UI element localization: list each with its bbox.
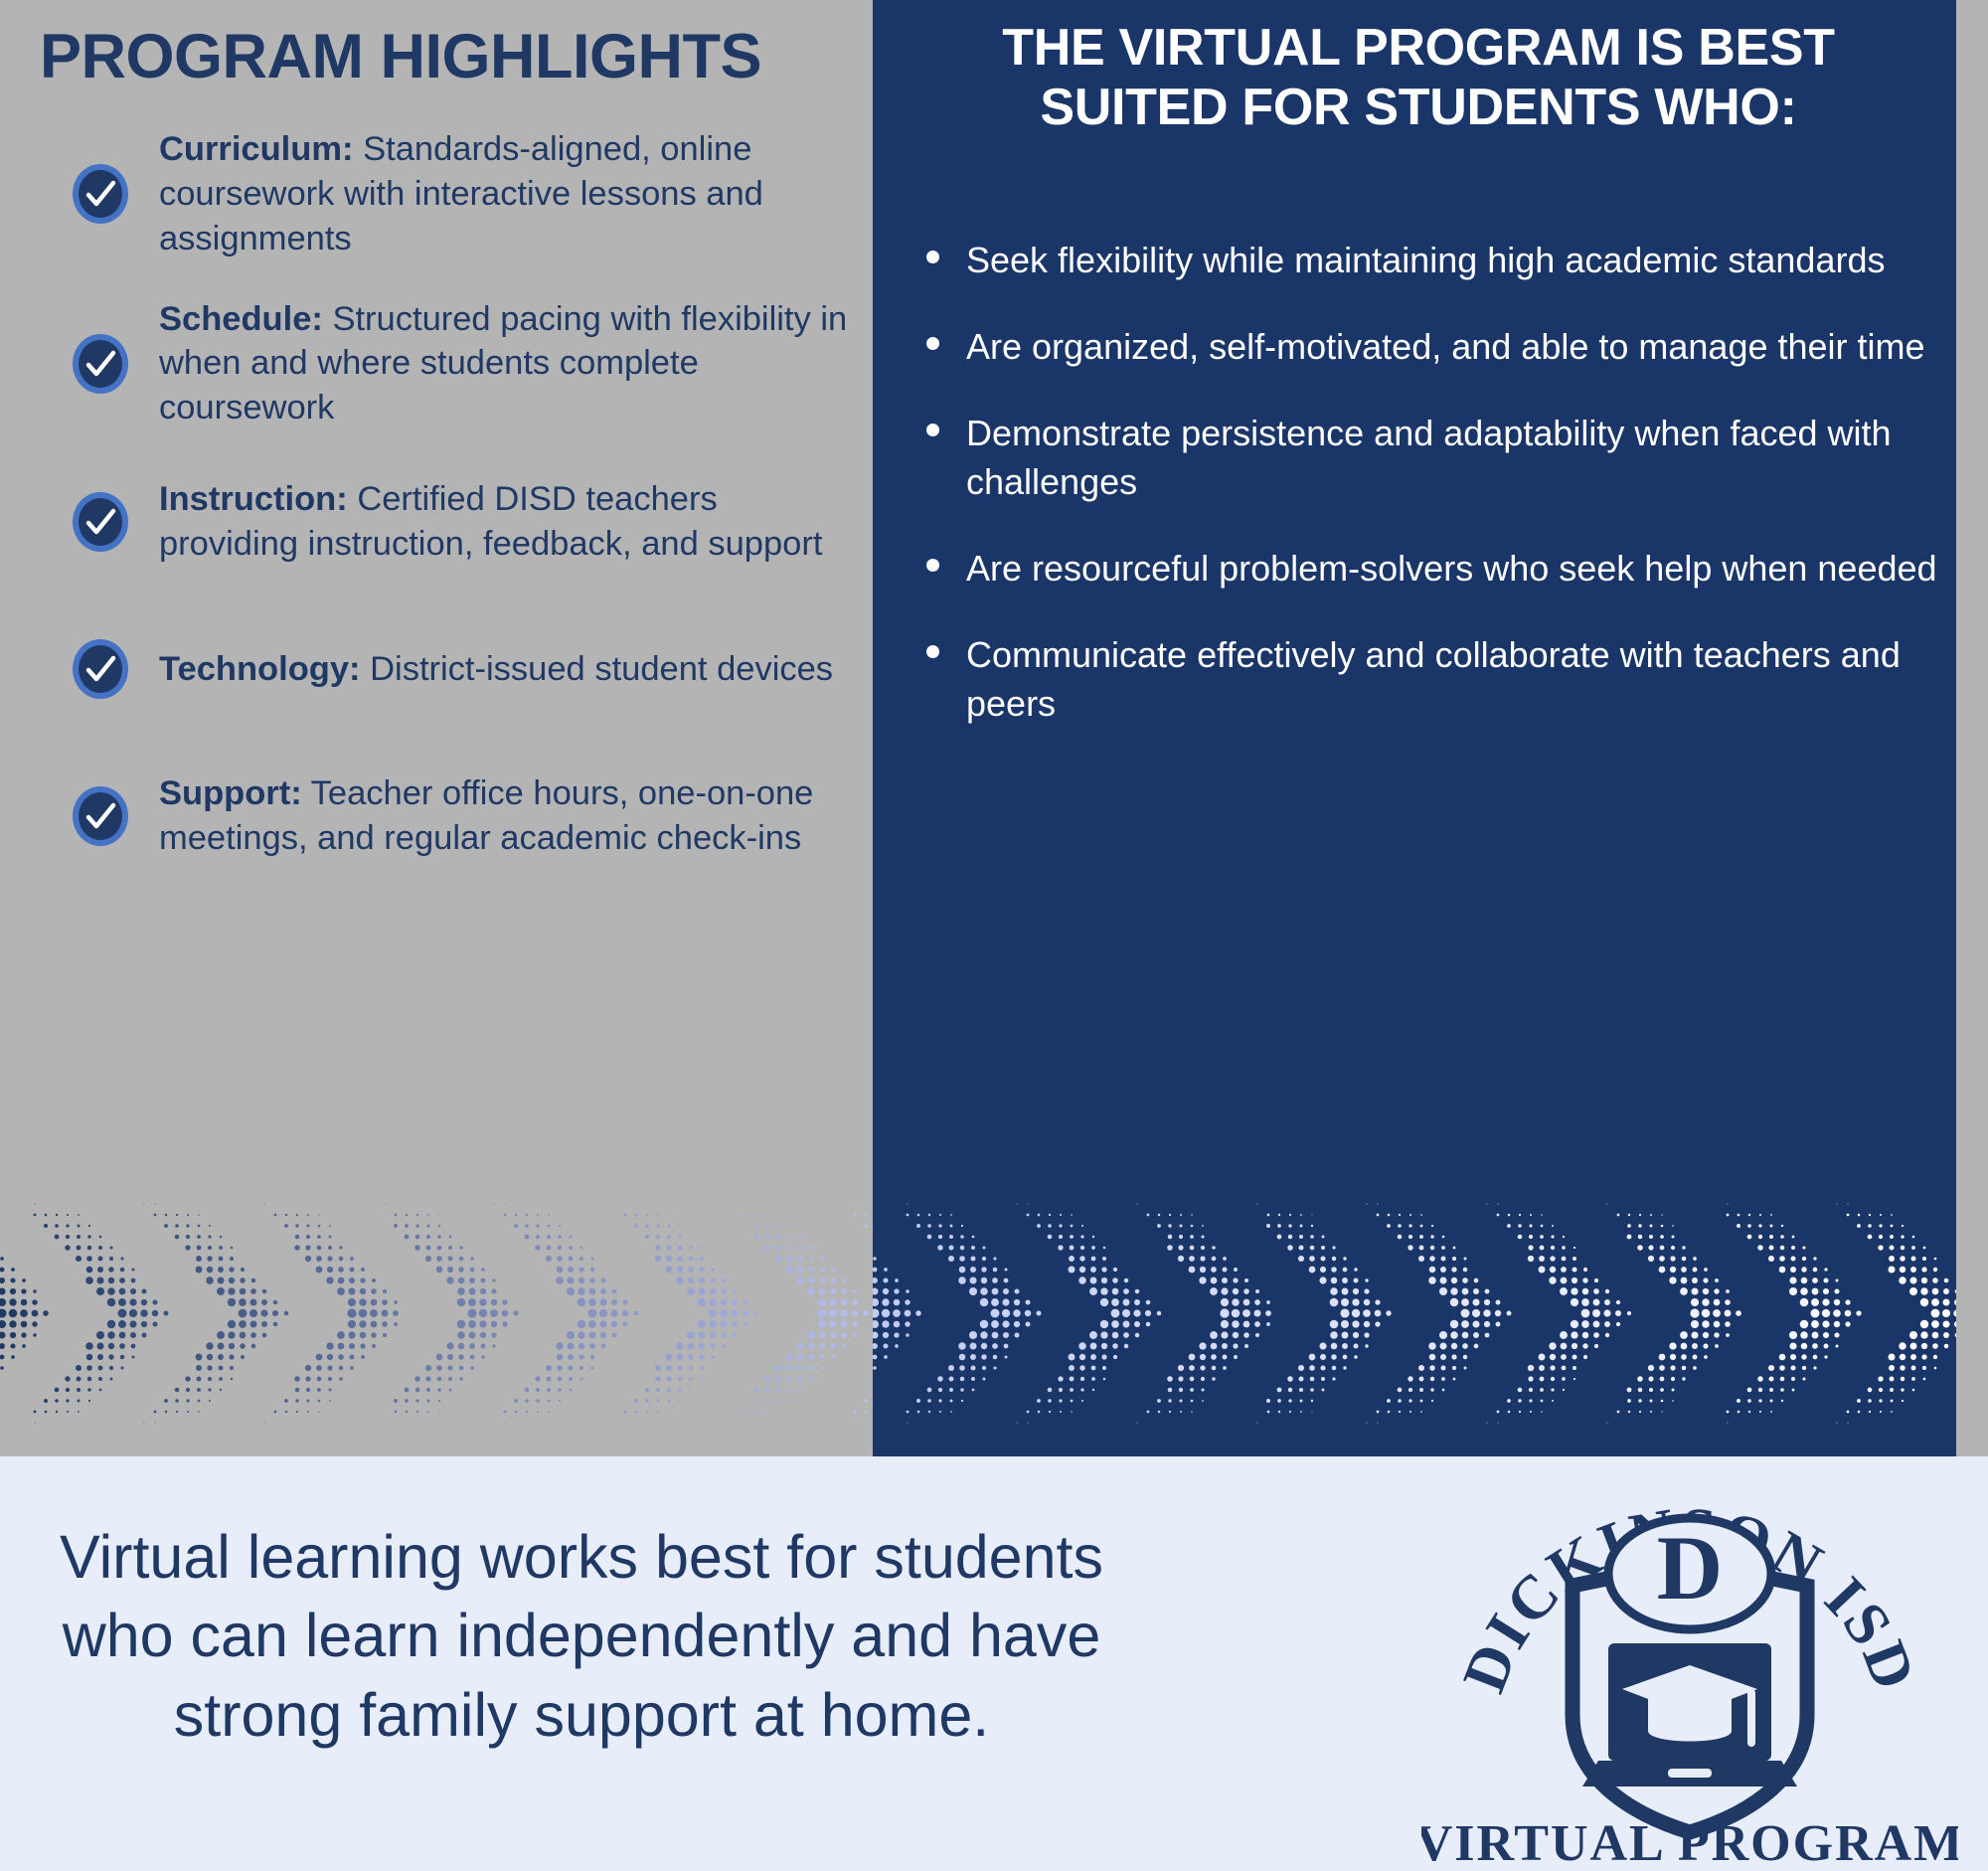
list-item: Demonstrate persistence and adaptability…: [895, 410, 1948, 507]
list-item: Are resourceful problem-solvers who seek…: [895, 545, 1948, 594]
list-item-text: Are resourceful problem-solvers who seek…: [966, 545, 1948, 594]
program-highlights-title: PROGRAM HIGHLIGHTS: [40, 24, 855, 89]
best-suited-title: THE VIRTUAL PROGRAM IS BEST SUITED FOR S…: [916, 18, 1920, 138]
highlight-label: Technology:: [159, 650, 361, 688]
bullet-dot-icon: [926, 559, 939, 572]
highlight-item-support: Support: Teacher office hours, one-on-on…: [60, 761, 855, 872]
program-highlights-list: Curriculum: Standards-aligned, online co…: [60, 127, 855, 908]
check-circle-icon: [72, 491, 129, 553]
logo-monogram: D: [1657, 1517, 1723, 1618]
highlight-text: Support: Teacher office hours, one-on-on…: [159, 771, 855, 861]
highlight-item-technology: Technology: District-issued student devi…: [60, 613, 855, 725]
highlight-label: Schedule:: [159, 300, 323, 338]
bottom-banner: Virtual learning works best for students…: [0, 1456, 1988, 1871]
highlight-label: Curriculum:: [159, 130, 354, 168]
check-circle-icon: [72, 163, 129, 225]
check-circle-icon: [72, 333, 129, 395]
bullet-dot-icon: [926, 645, 939, 658]
top-section: PROGRAM HIGHLIGHTS Curriculum: Standards…: [0, 0, 1988, 1456]
highlight-label: Support:: [159, 774, 302, 812]
bullet-dot-icon: [926, 251, 939, 263]
highlight-text: Schedule: Structured pacing with flexibi…: [159, 297, 855, 431]
bullet-dot-icon: [926, 424, 939, 436]
bullet-dot-icon: [926, 337, 939, 350]
highlight-text: Curriculum: Standards-aligned, online co…: [159, 127, 855, 261]
highlight-item-schedule: Schedule: Structured pacing with flexibi…: [60, 297, 855, 431]
list-item: Seek flexibility while maintaining high …: [895, 237, 1948, 285]
highlight-body: District-issued student devices: [361, 650, 834, 688]
check-circle-icon: [72, 638, 129, 700]
dickinson-isd-virtual-program-logo: DICKINSON ISD D VIRTUAL PROGRAM: [1421, 1466, 1958, 1864]
list-item: Are organized, self-motivated, and able …: [895, 323, 1948, 372]
list-item-text: Seek flexibility while maintaining high …: [966, 237, 1948, 285]
list-item-text: Communicate effectively and collaborate …: [966, 631, 1948, 729]
highlight-text: Instruction: Certified DISD teachers pro…: [159, 477, 855, 567]
laptop-trackpad-icon: [1668, 1769, 1712, 1778]
highlight-text: Technology: District-issued student devi…: [159, 647, 855, 692]
program-highlights-panel: PROGRAM HIGHLIGHTS Curriculum: Standards…: [0, 0, 873, 1456]
list-item: Communicate effectively and collaborate …: [895, 631, 1948, 729]
banner-statement: Virtual learning works best for students…: [20, 1518, 1143, 1755]
list-item-text: Are organized, self-motivated, and able …: [966, 323, 1948, 372]
chevron-halftone-decoration-left: [0, 1158, 873, 1456]
list-item-text: Demonstrate persistence and adaptability…: [966, 410, 1948, 507]
highlight-label: Instruction:: [159, 480, 348, 518]
check-circle-icon: [72, 785, 129, 847]
highlight-item-curriculum: Curriculum: Standards-aligned, online co…: [60, 127, 855, 261]
highlight-item-instruction: Instruction: Certified DISD teachers pro…: [60, 466, 855, 578]
best-suited-panel: THE VIRTUAL PROGRAM IS BEST SUITED FOR S…: [873, 0, 1956, 1456]
best-suited-list: Seek flexibility while maintaining high …: [895, 237, 1948, 766]
chevron-halftone-decoration-right: [873, 1158, 1956, 1456]
logo-bottom-text: VIRTUAL PROGRAM: [1421, 1815, 1958, 1864]
